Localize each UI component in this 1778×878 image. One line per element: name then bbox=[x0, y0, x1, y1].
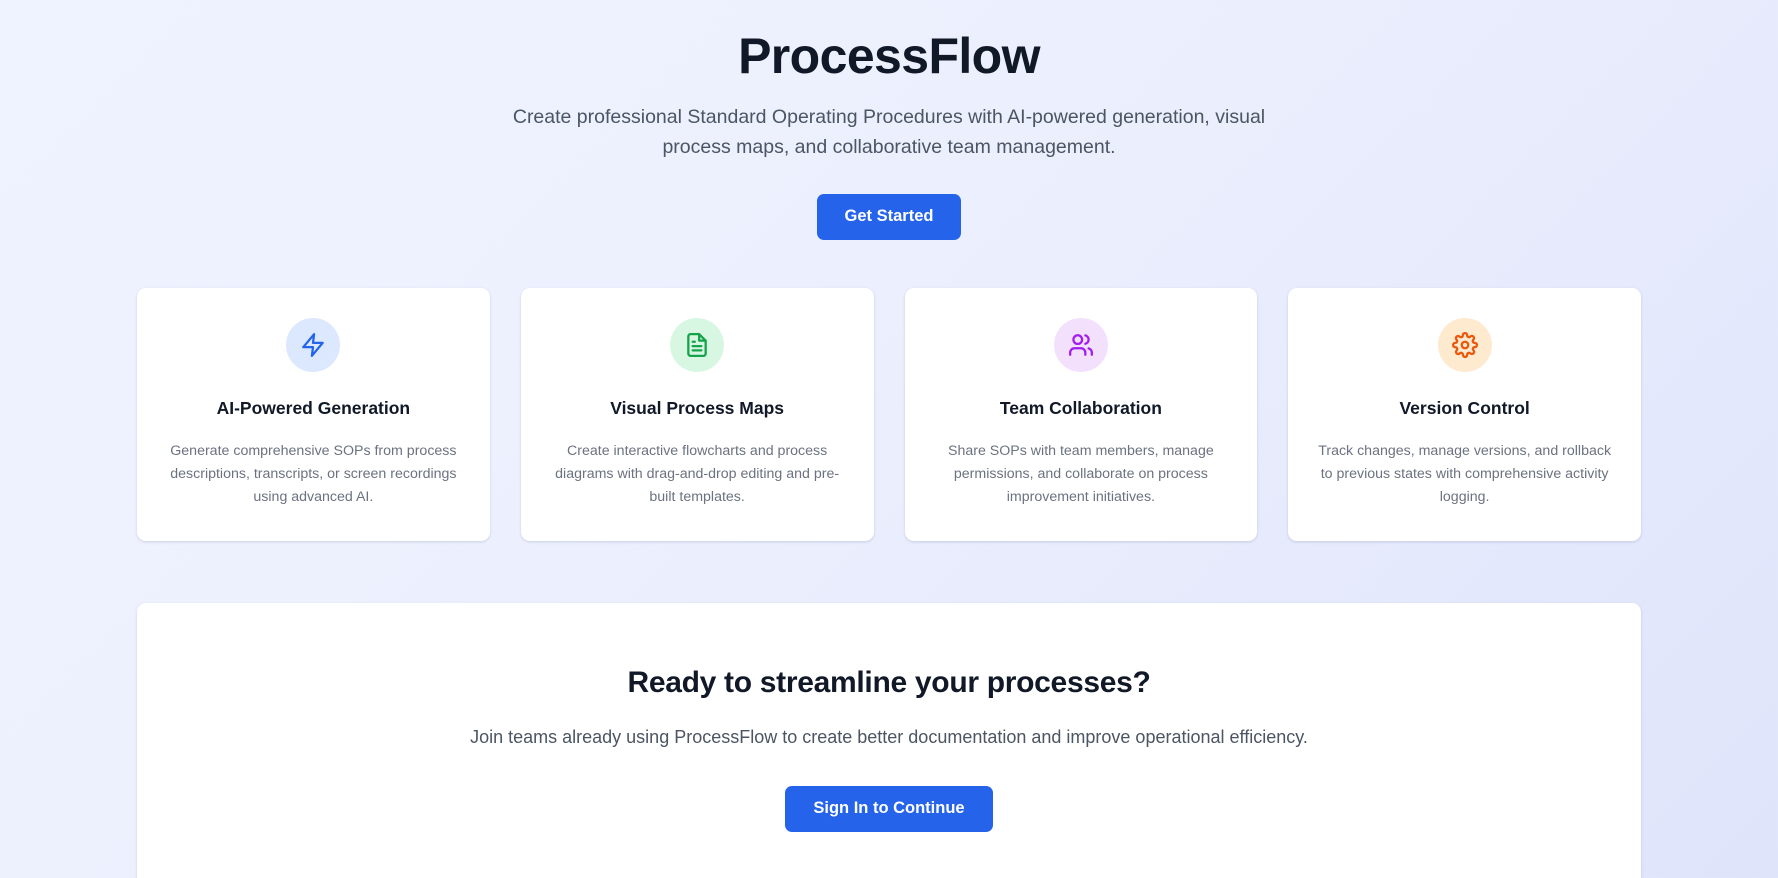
feature-card-team-collaboration[interactable]: Team Collaboration Share SOPs with team … bbox=[905, 288, 1258, 541]
landing-page: ProcessFlow Create professional Standard… bbox=[0, 0, 1778, 878]
zap-icon bbox=[300, 332, 326, 358]
document-icon-badge bbox=[670, 318, 724, 372]
cta-panel: Ready to streamline your processes? Join… bbox=[137, 603, 1641, 878]
hero-cta-container: Get Started bbox=[0, 194, 1778, 240]
page-title: ProcessFlow bbox=[0, 26, 1778, 86]
feature-title: Version Control bbox=[1314, 397, 1615, 420]
hero-section: ProcessFlow Create professional Standard… bbox=[0, 0, 1778, 240]
users-icon-badge bbox=[1054, 318, 1108, 372]
feature-title: Team Collaboration bbox=[931, 397, 1232, 420]
feature-card-visual-process-maps[interactable]: Visual Process Maps Create interactive f… bbox=[521, 288, 874, 541]
feature-card-ai-powered-generation[interactable]: AI-Powered Generation Generate comprehen… bbox=[137, 288, 490, 541]
gear-icon bbox=[1452, 332, 1478, 358]
zap-icon-badge bbox=[286, 318, 340, 372]
cta-button-container: Sign In to Continue bbox=[177, 786, 1601, 832]
feature-description: Share SOPs with team members, manage per… bbox=[931, 440, 1232, 509]
feature-description: Track changes, manage versions, and roll… bbox=[1314, 440, 1615, 509]
feature-title: AI-Powered Generation bbox=[163, 397, 464, 420]
feature-description: Create interactive flowcharts and proces… bbox=[547, 440, 848, 509]
hero-subtitle: Create professional Standard Operating P… bbox=[494, 103, 1284, 162]
feature-description: Generate comprehensive SOPs from process… bbox=[163, 440, 464, 509]
gear-icon-badge bbox=[1438, 318, 1492, 372]
cta-subtitle: Join teams already using ProcessFlow to … bbox=[177, 724, 1601, 751]
sign-in-to-continue-button[interactable]: Sign In to Continue bbox=[785, 786, 992, 832]
features-grid: AI-Powered Generation Generate comprehen… bbox=[137, 288, 1641, 541]
document-icon bbox=[684, 332, 710, 358]
feature-title: Visual Process Maps bbox=[547, 397, 848, 420]
users-icon bbox=[1068, 332, 1094, 358]
cta-title: Ready to streamline your processes? bbox=[177, 663, 1601, 702]
get-started-button[interactable]: Get Started bbox=[817, 194, 962, 240]
feature-card-version-control[interactable]: Version Control Track changes, manage ve… bbox=[1288, 288, 1641, 541]
